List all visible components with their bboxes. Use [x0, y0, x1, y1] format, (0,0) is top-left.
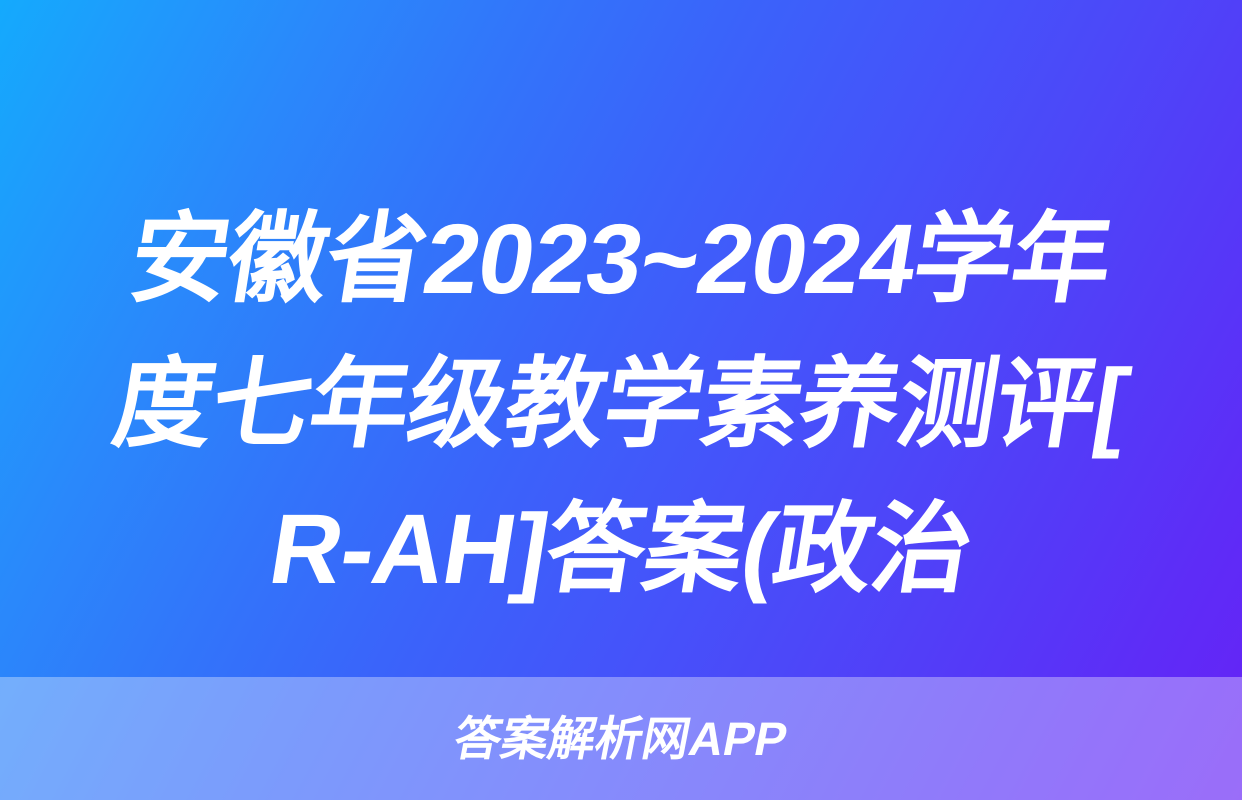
watermark-label: 答案解析网APP — [451, 715, 792, 762]
title-line-2: 度七年级教学素养测评[ — [73, 331, 1170, 476]
watermark-band: 答案解析网APP — [0, 677, 1242, 800]
poster-card: 安徽省2023~2024学年 度七年级教学素养测评[ R-AH]答案(政治 答案… — [0, 0, 1242, 800]
title-line-1: 安徽省2023~2024学年 — [73, 186, 1170, 331]
page-title: 安徽省2023~2024学年 度七年级教学素养测评[ R-AH]答案(政治 — [0, 186, 1242, 621]
title-line-3: R-AH]答案(政治 — [73, 476, 1170, 621]
